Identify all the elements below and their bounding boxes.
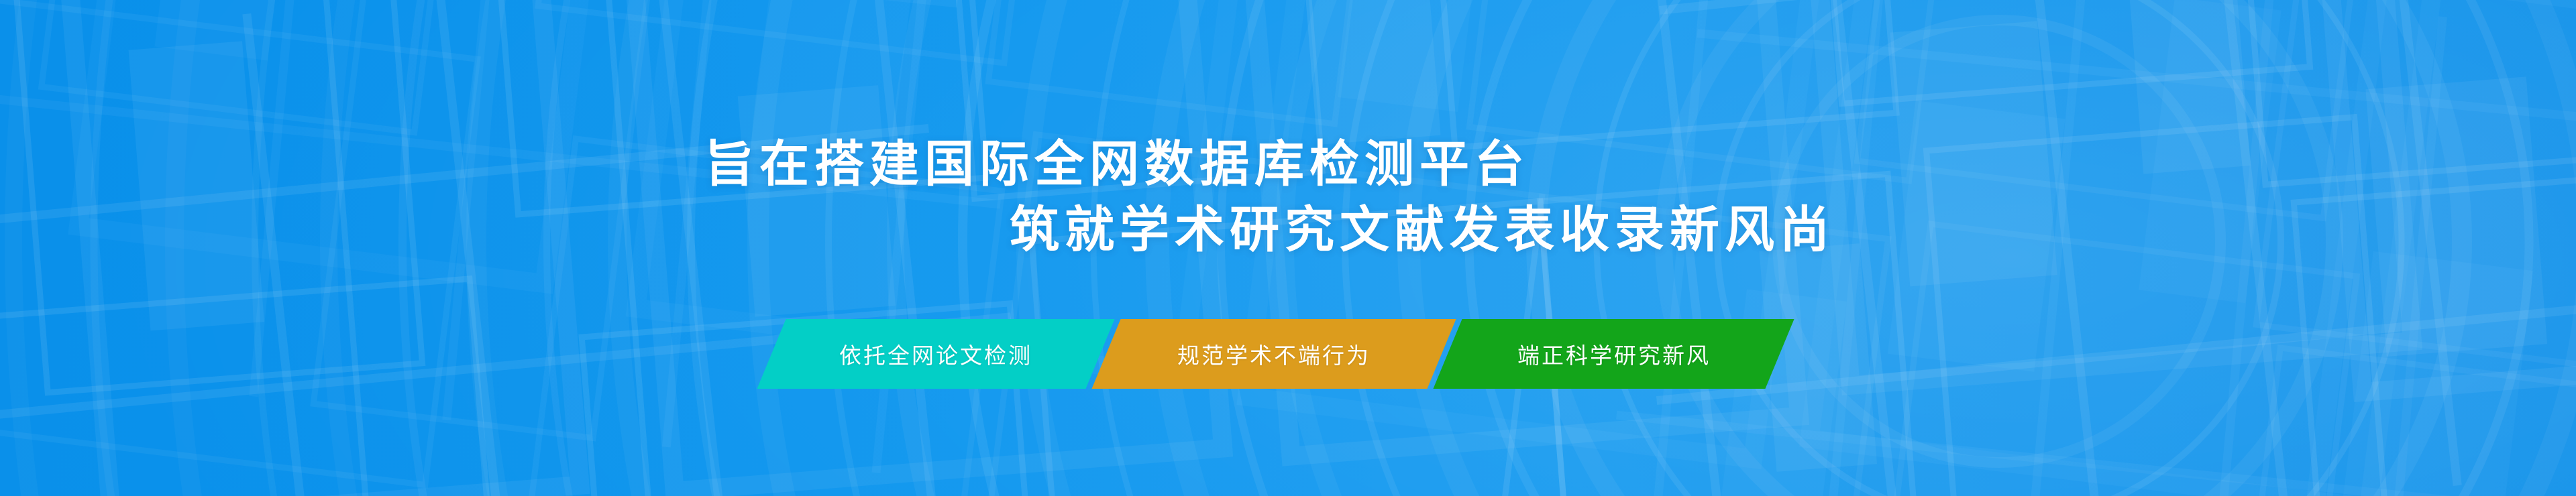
banner-content: 旨在搭建国际全网数据库检测平台 筑就学术研究文献发表收录新风尚 依托全网论文检测… [0, 0, 2576, 496]
badge-label: 规范学术不端行为 [1177, 338, 1371, 370]
badge-label: 依托全网论文检测 [839, 338, 1032, 370]
badge-research-integrity[interactable]: 端正科学研究新风 [1433, 319, 1794, 389]
headline-line-1: 旨在搭建国际全网数据库检测平台 [704, 136, 1529, 192]
promo-banner: 旨在搭建国际全网数据库检测平台 筑就学术研究文献发表收录新风尚 依托全网论文检测… [0, 0, 2576, 496]
feature-badge-ribbon: 依托全网论文检测 规范学术不端行为 端正科学研究新风 [771, 319, 1780, 389]
badge-academic-misconduct[interactable]: 规范学术不端行为 [1091, 319, 1456, 389]
headline: 旨在搭建国际全网数据库检测平台 筑就学术研究文献发表收录新风尚 [0, 131, 1529, 263]
badge-label: 端正科学研究新风 [1517, 338, 1711, 370]
headline-line-2: 筑就学术研究文献发表收录新风尚 [0, 197, 1835, 263]
badge-paper-detection[interactable]: 依托全网论文检测 [757, 319, 1114, 389]
